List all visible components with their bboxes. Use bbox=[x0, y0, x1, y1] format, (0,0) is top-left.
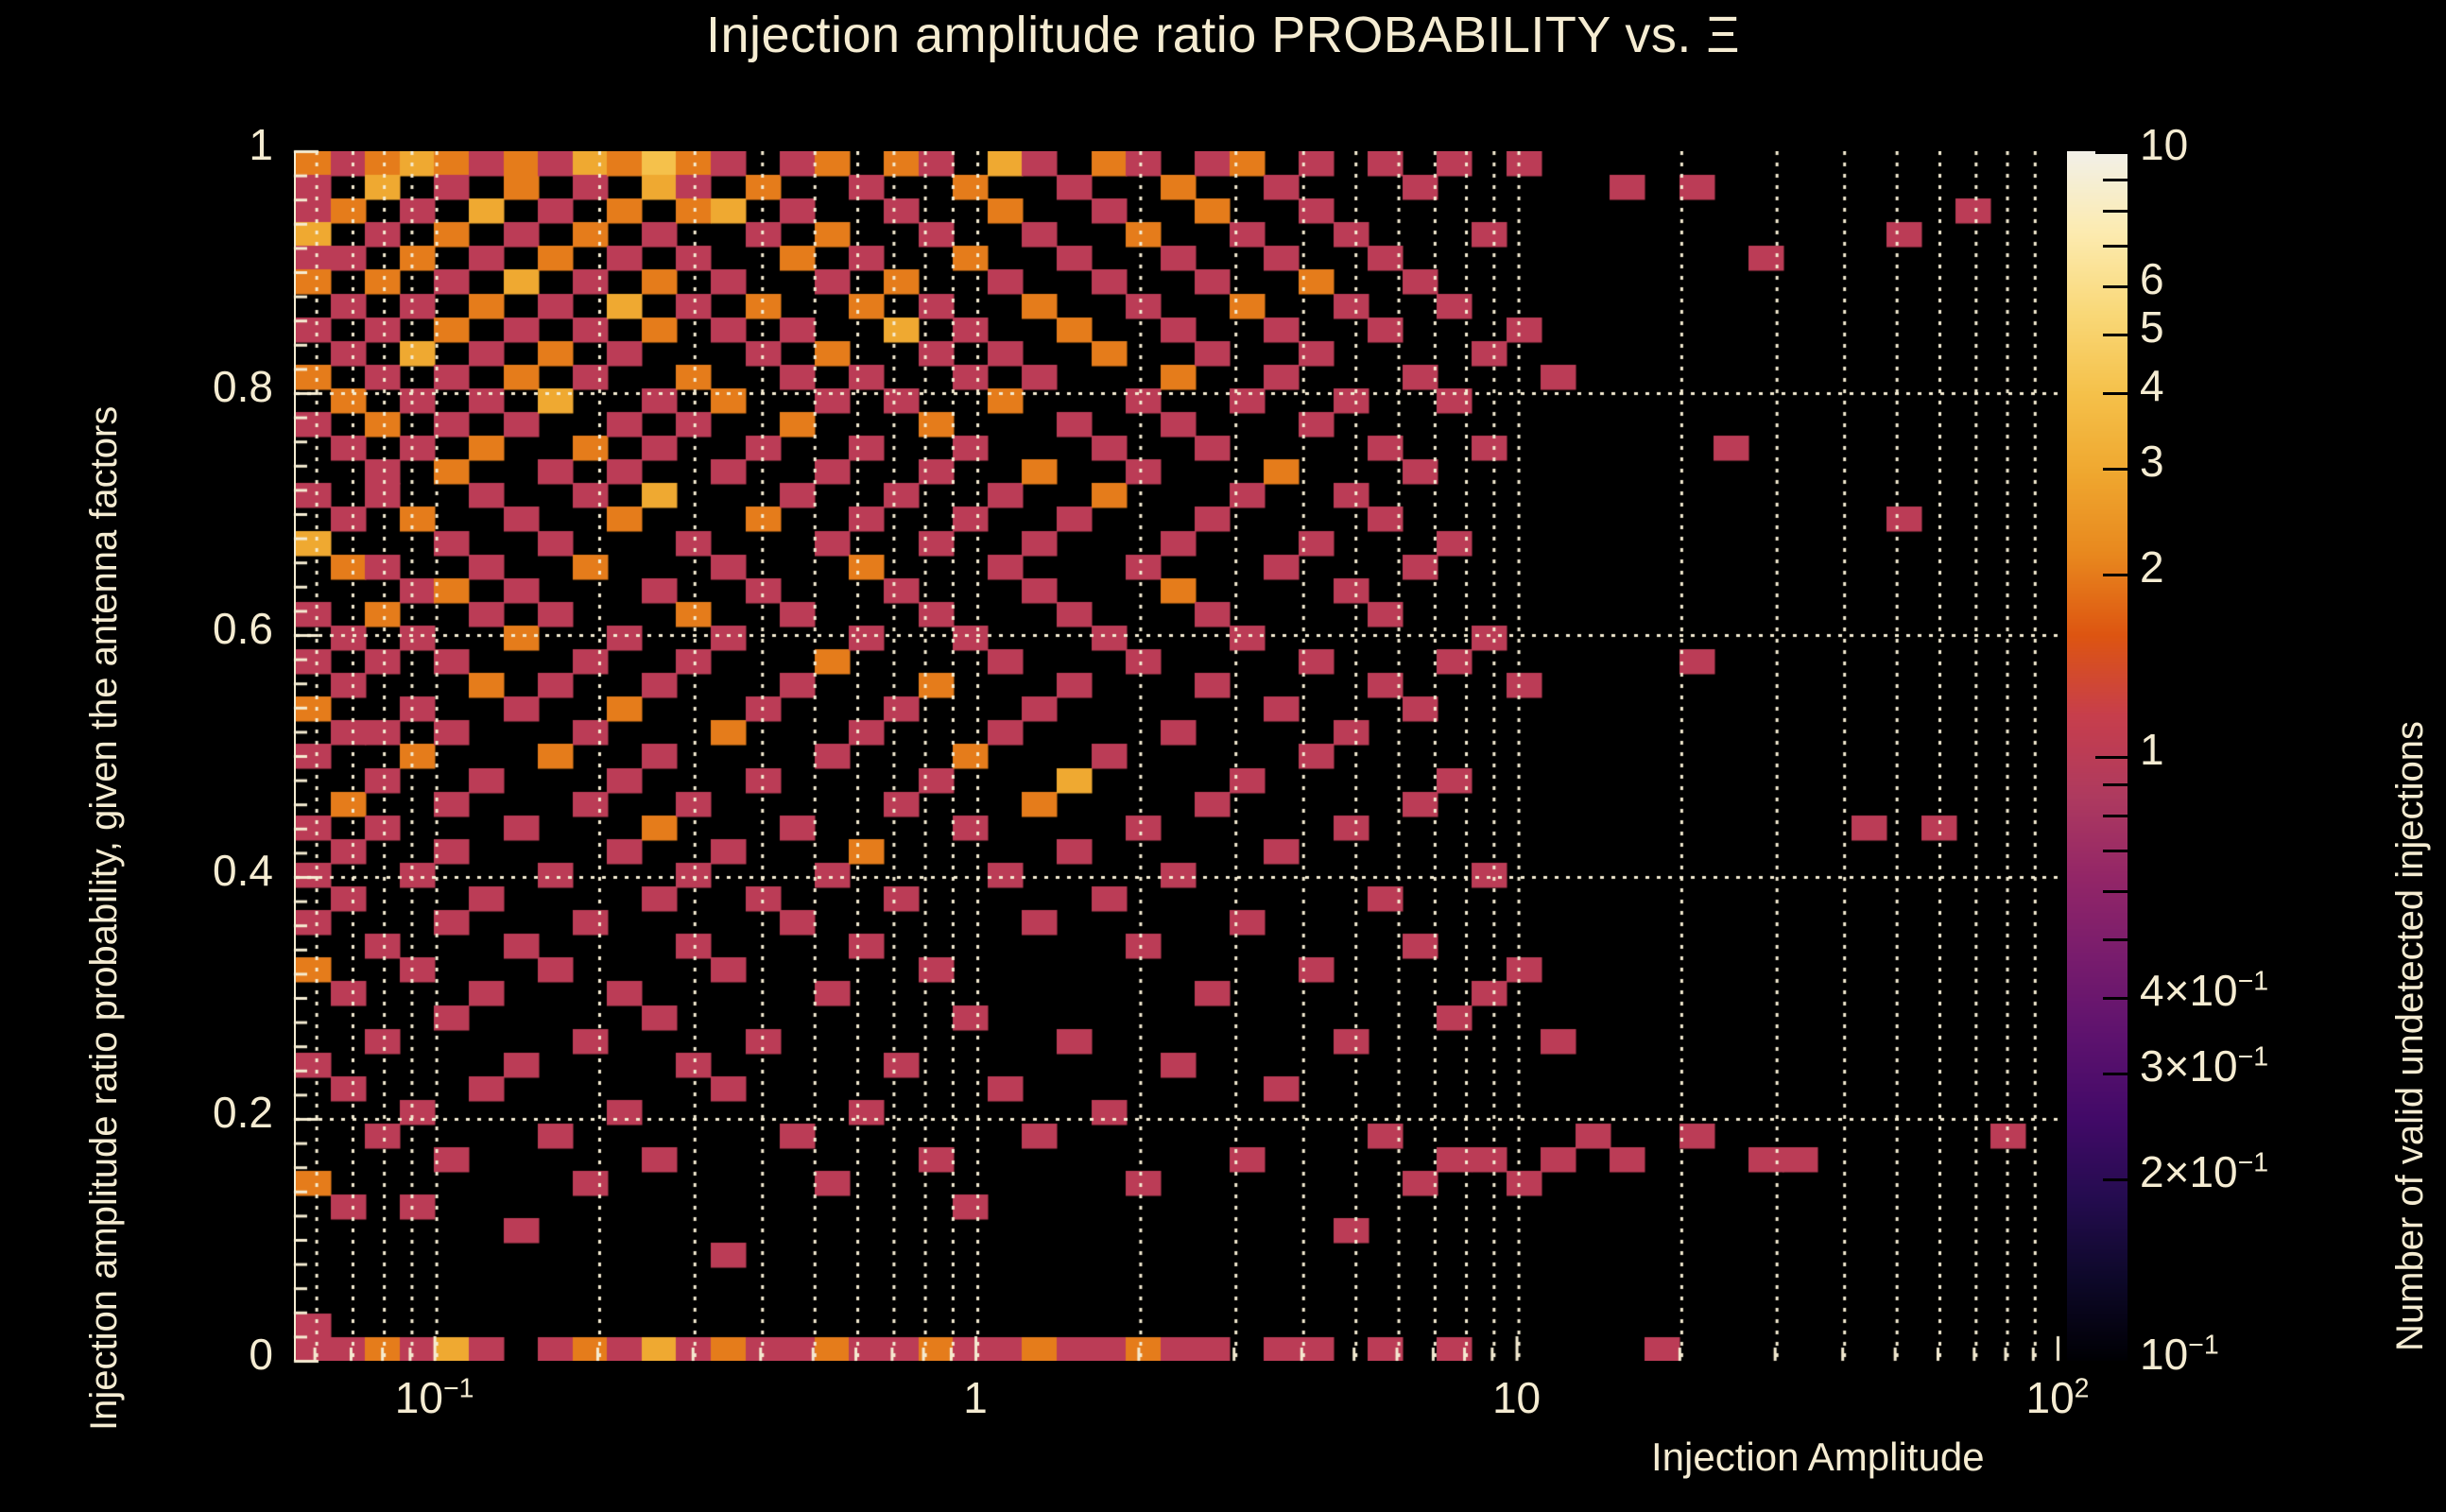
colorbar-tick bbox=[2103, 997, 2127, 1000]
colorbar bbox=[2067, 151, 2127, 1361]
colorbar-tick-label: 4 bbox=[2140, 364, 2164, 407]
x-tick-label: 10−1 bbox=[383, 1376, 487, 1419]
colorbar-tick bbox=[2103, 285, 2127, 288]
colorbar-tick-label: 10−1 bbox=[2140, 1332, 2219, 1376]
colorbar-tick bbox=[2095, 151, 2127, 154]
colorbar-tick bbox=[2103, 468, 2127, 471]
colorbar-tick-label: 10 bbox=[2140, 123, 2188, 166]
colorbar-tick bbox=[2103, 783, 2127, 786]
colorbar-tick-label: 4×10−1 bbox=[2140, 969, 2268, 1012]
y-tick-label: 0.8 bbox=[0, 365, 273, 408]
x-tick-label: 10 bbox=[1465, 1376, 1569, 1419]
y-tick-label: 0.4 bbox=[0, 849, 273, 892]
colorbar-tick bbox=[2103, 574, 2127, 576]
colorbar-tick-label: 2×10−1 bbox=[2140, 1150, 2268, 1194]
x-axis-title: Injection Amplitude bbox=[1651, 1435, 1985, 1480]
colorbar-tick bbox=[2103, 210, 2127, 213]
page-title: Injection amplitude ratio PROBABILITY vs… bbox=[0, 6, 2446, 64]
colorbar-tick bbox=[2095, 1361, 2127, 1364]
colorbar-tick-label: 5 bbox=[2140, 305, 2164, 349]
colorbar-tick bbox=[2103, 938, 2127, 941]
colorbar-tick bbox=[2103, 334, 2127, 336]
colorbar-tick bbox=[2103, 179, 2127, 181]
colorbar-tick-label: 6 bbox=[2140, 257, 2164, 301]
colorbar-tick bbox=[2103, 392, 2127, 395]
x-tick-label: 1 bbox=[923, 1376, 1027, 1419]
y-tick-label: 0 bbox=[0, 1332, 273, 1376]
plot-area bbox=[294, 151, 2058, 1361]
colorbar-tick-label: 2 bbox=[2140, 545, 2164, 589]
x-tick-label: 102 bbox=[2006, 1376, 2110, 1419]
colorbar-tick-label: 1 bbox=[2140, 728, 2164, 771]
colorbar-tick bbox=[2103, 245, 2127, 248]
colorbar-tick-label: 3 bbox=[2140, 439, 2164, 483]
colorbar-tick bbox=[2103, 1073, 2127, 1075]
y-tick-label: 0.6 bbox=[0, 607, 273, 650]
y-tick-label: 0.2 bbox=[0, 1091, 273, 1134]
y-tick-label: 1 bbox=[0, 123, 273, 166]
colorbar-tick bbox=[2103, 1178, 2127, 1181]
colorbar-tick-label: 3×10−1 bbox=[2140, 1044, 2268, 1088]
y-axis-title: Injection amplitude ratio probability, g… bbox=[83, 406, 126, 1431]
colorbar-tick bbox=[2103, 815, 2127, 817]
colorbar-tick bbox=[2095, 756, 2127, 759]
colorbar-title: Number of valid undetected injections bbox=[2389, 721, 2432, 1351]
heatmap-cells bbox=[296, 151, 2059, 1361]
colorbar-tick bbox=[2103, 850, 2127, 852]
colorbar-tick bbox=[2103, 890, 2127, 893]
